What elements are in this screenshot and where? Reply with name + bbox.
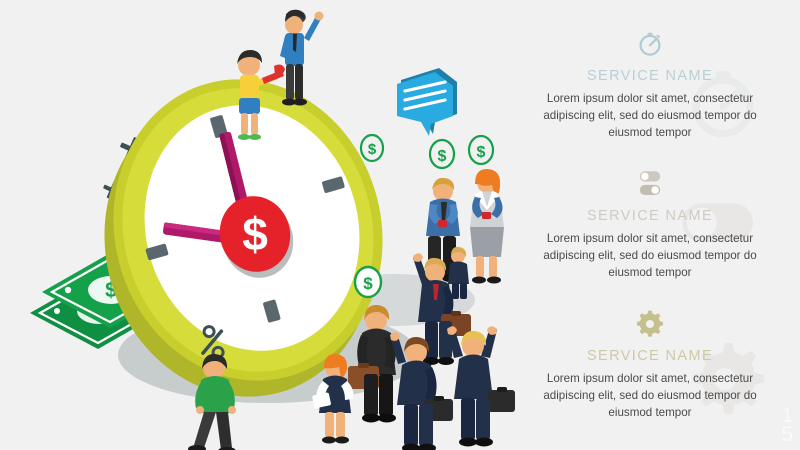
person-businesswoman-phone xyxy=(470,169,504,284)
svg-text:$: $ xyxy=(477,144,486,161)
service-title-1: SERVICE NAME xyxy=(505,68,795,84)
person-man-blue-shirt xyxy=(280,10,324,106)
svg-text:$: $ xyxy=(438,148,447,165)
illustration-isometric-clock-money-scene: $ $ xyxy=(0,0,520,450)
service-block-1[interactable]: SERVICE NAME Lorem ipsum dolor sit amet,… xyxy=(505,24,795,141)
stopwatch-icon xyxy=(505,24,795,64)
service-block-3[interactable]: SERVICE NAME Lorem ipsum dolor sit amet,… xyxy=(505,304,795,421)
svg-text:$: $ xyxy=(368,141,377,158)
gear-icon xyxy=(505,304,795,344)
service-title-3: SERVICE NAME xyxy=(505,348,795,364)
slide-canvas: $ $ xyxy=(0,0,800,450)
service-body-3: Lorem ipsum dolor sit amet, consectetur … xyxy=(505,371,795,421)
service-body-2: Lorem ipsum dolor sit amet, consectetur … xyxy=(505,231,795,281)
slide-number: 15 xyxy=(781,407,793,444)
speech-bubble-icon xyxy=(397,68,457,136)
service-title-2: SERVICE NAME xyxy=(505,208,795,224)
svg-text:$: $ xyxy=(363,274,373,293)
toggle-switch-icon xyxy=(505,164,795,204)
service-block-2[interactable]: SERVICE NAME Lorem ipsum dolor sit amet,… xyxy=(505,164,795,281)
clock-center-dollar: $ xyxy=(242,208,268,260)
service-body-1: Lorem ipsum dolor sit amet, consectetur … xyxy=(505,91,795,141)
